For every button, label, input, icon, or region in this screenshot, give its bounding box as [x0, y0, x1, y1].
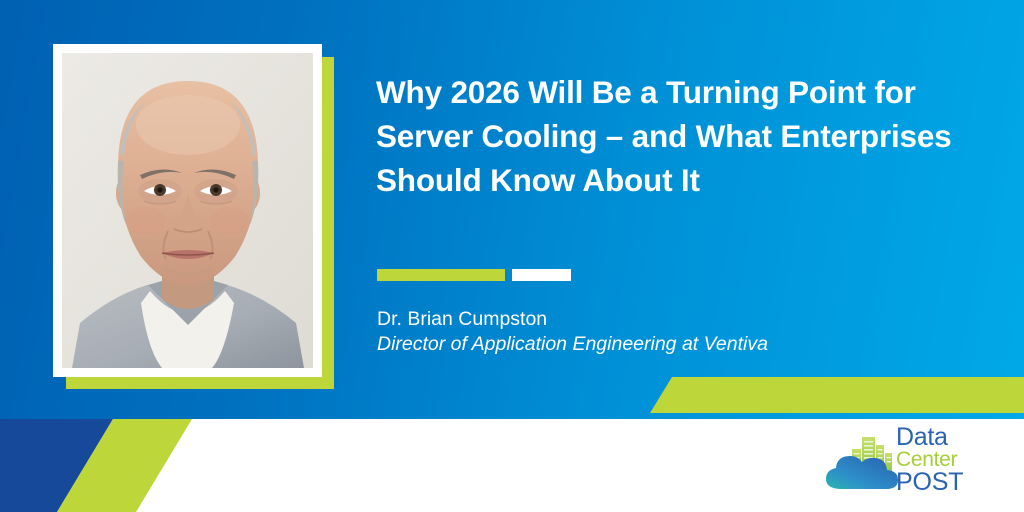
logo-wordmark: Data Center POST [896, 425, 1004, 495]
headshot-illustration [62, 53, 313, 368]
logo-mark [824, 431, 902, 493]
accent-bar-white [512, 269, 571, 281]
byline-block: Dr. Brian Cumpston Director of Applicati… [377, 307, 768, 357]
logo-word-data: Data [896, 425, 1004, 449]
byline-author-name: Dr. Brian Cumpston [377, 307, 768, 332]
article-headline: Why 2026 Will Be a Turning Point for Ser… [376, 70, 976, 202]
logo-word-center: Center [896, 449, 1004, 470]
byline-author-role: Director of Application Engineering at V… [377, 332, 768, 357]
promo-banner-canvas: Why 2026 Will Be a Turning Point for Ser… [0, 0, 1024, 512]
accent-bar-green [377, 269, 505, 281]
speaker-headshot-photo [62, 53, 313, 368]
datacenterpost-logo[interactable]: Data Center POST [824, 425, 1004, 497]
green-stripe-right [650, 377, 1024, 413]
logo-word-post: POST [896, 470, 1004, 495]
